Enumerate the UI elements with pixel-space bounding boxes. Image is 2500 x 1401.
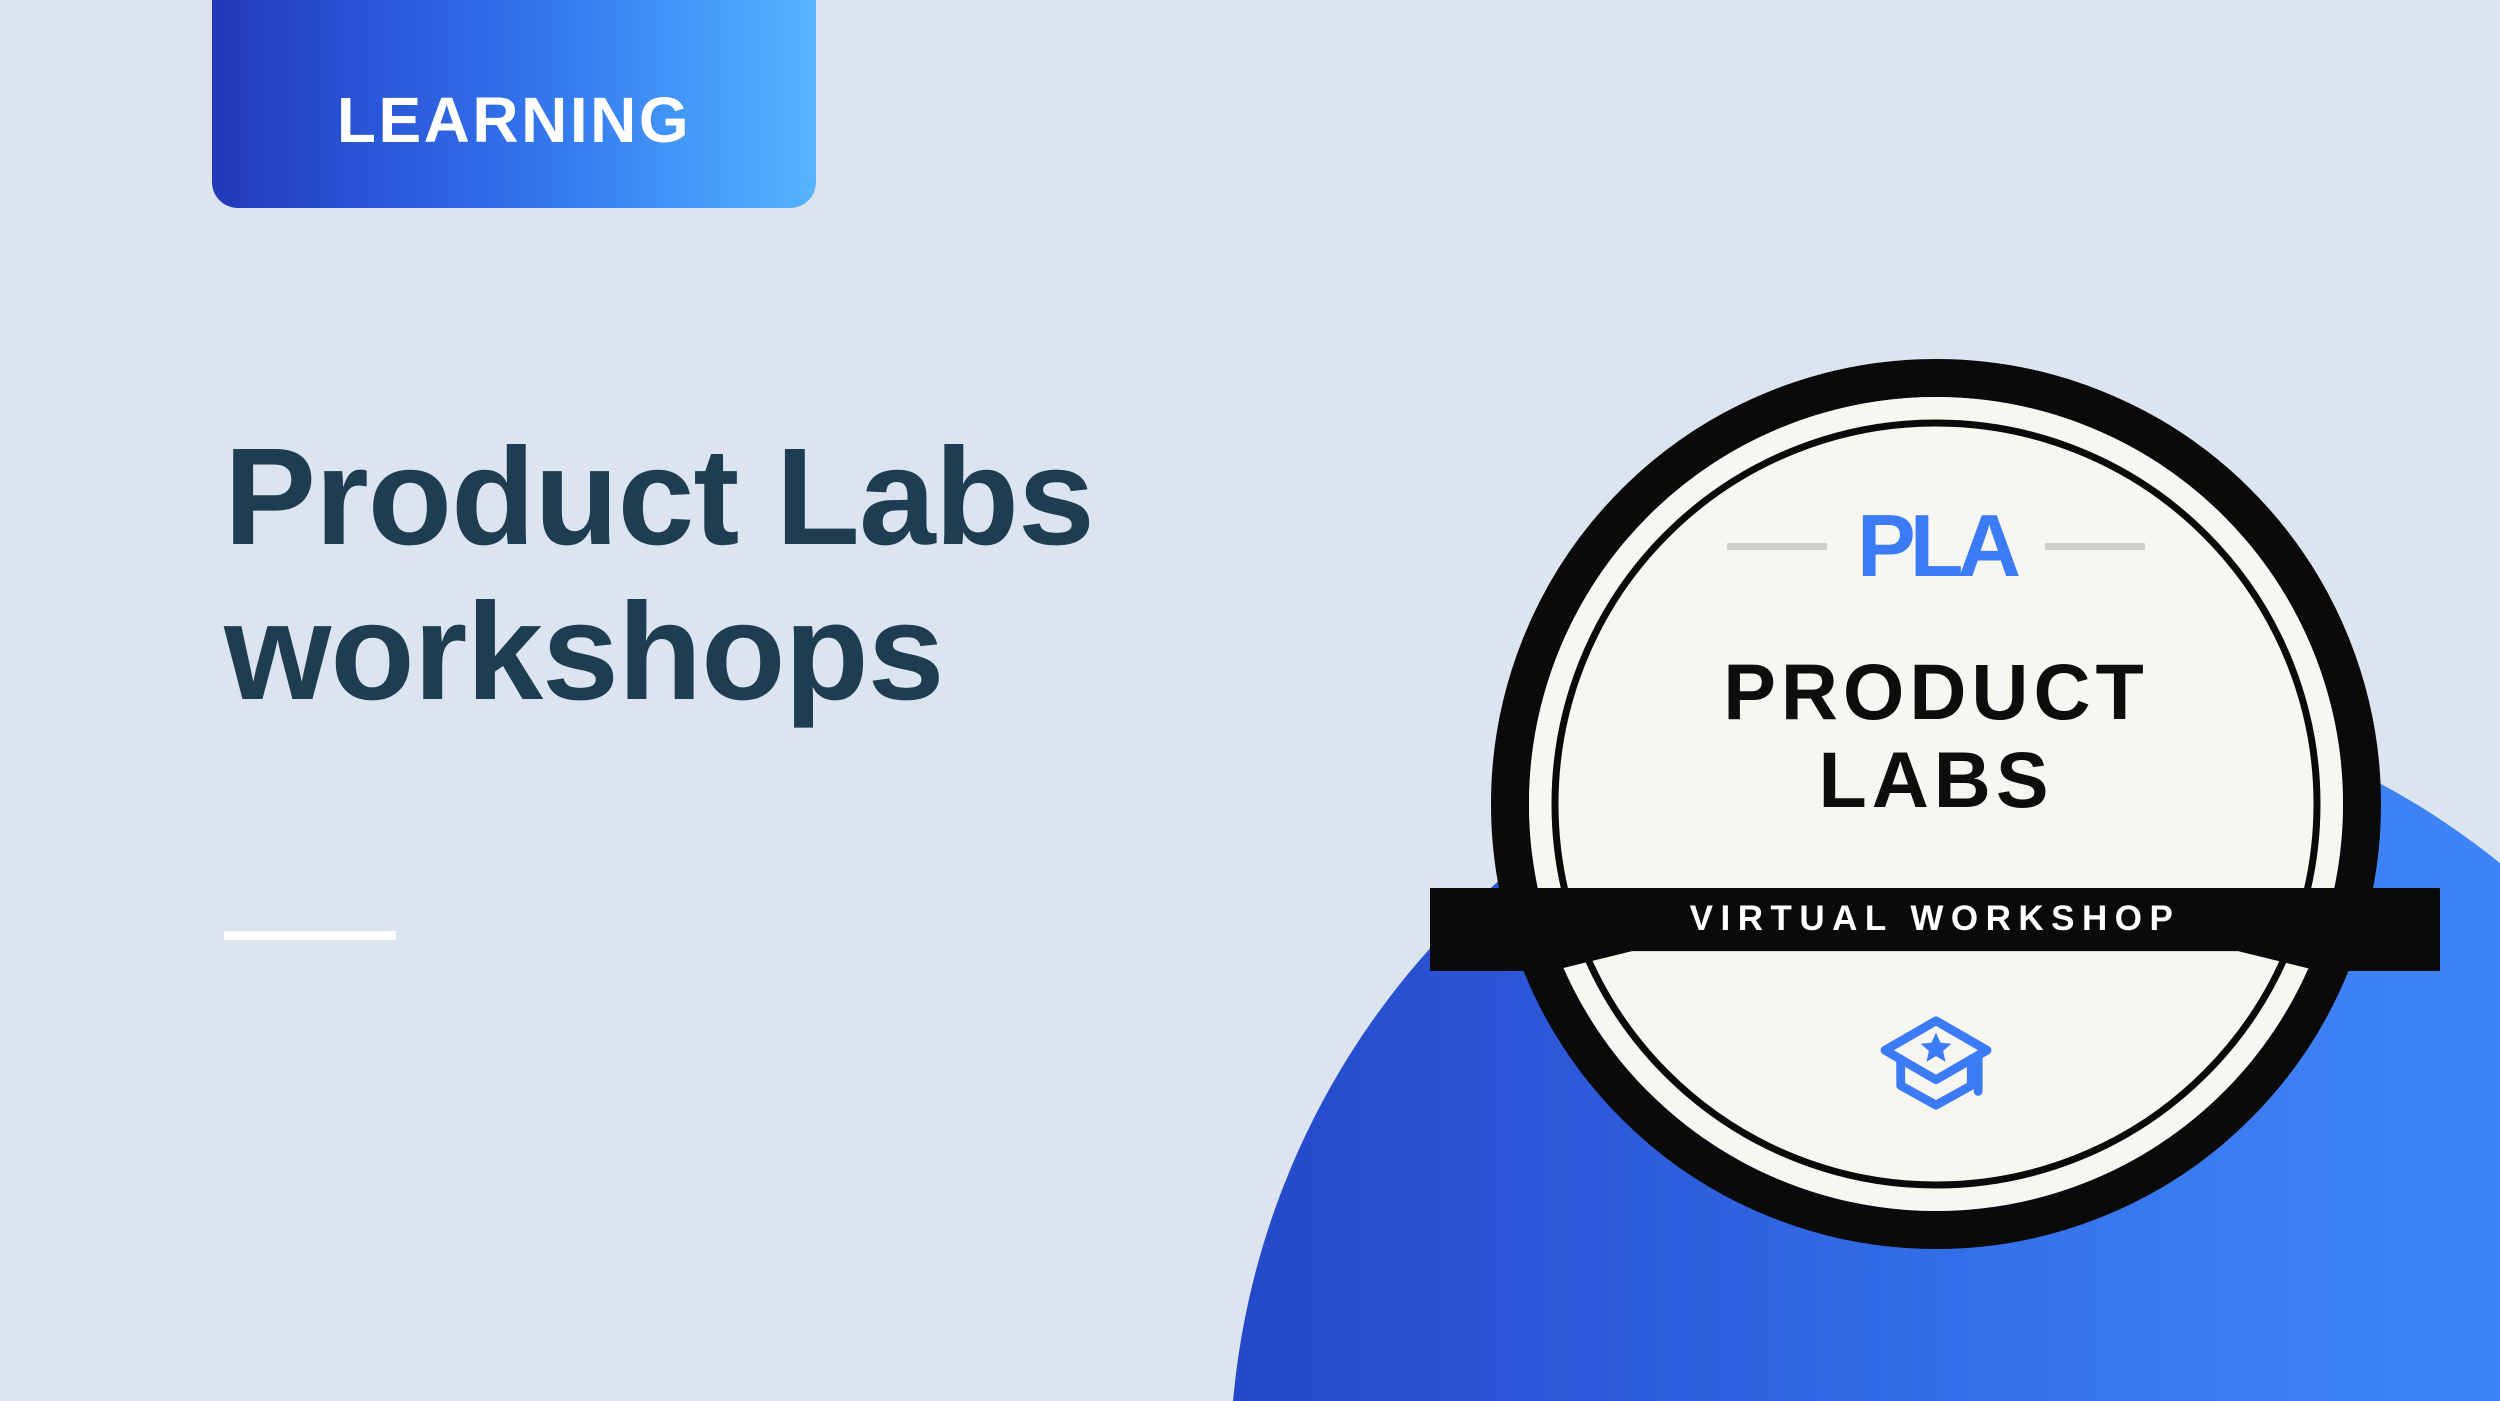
banner-canvas: LEARNING Product Labs workshops PLA	[0, 0, 2500, 1401]
headline-line-1: Product Labs	[224, 420, 1424, 575]
badge-face	[1529, 397, 2343, 1211]
learning-tab-label: LEARNING	[337, 88, 691, 152]
page-title: Product Labs workshops	[224, 420, 1424, 729]
headline-line-2: workshops	[224, 575, 1424, 730]
learning-tab: LEARNING	[212, 0, 816, 208]
badge-rings	[1490, 358, 2382, 1250]
product-labs-badge: PLA PRODUCT LABS VIRTUAL WORKSHOP	[1490, 358, 2382, 1250]
headline-block: Product Labs workshops	[224, 420, 1424, 729]
headline-divider	[224, 931, 396, 940]
